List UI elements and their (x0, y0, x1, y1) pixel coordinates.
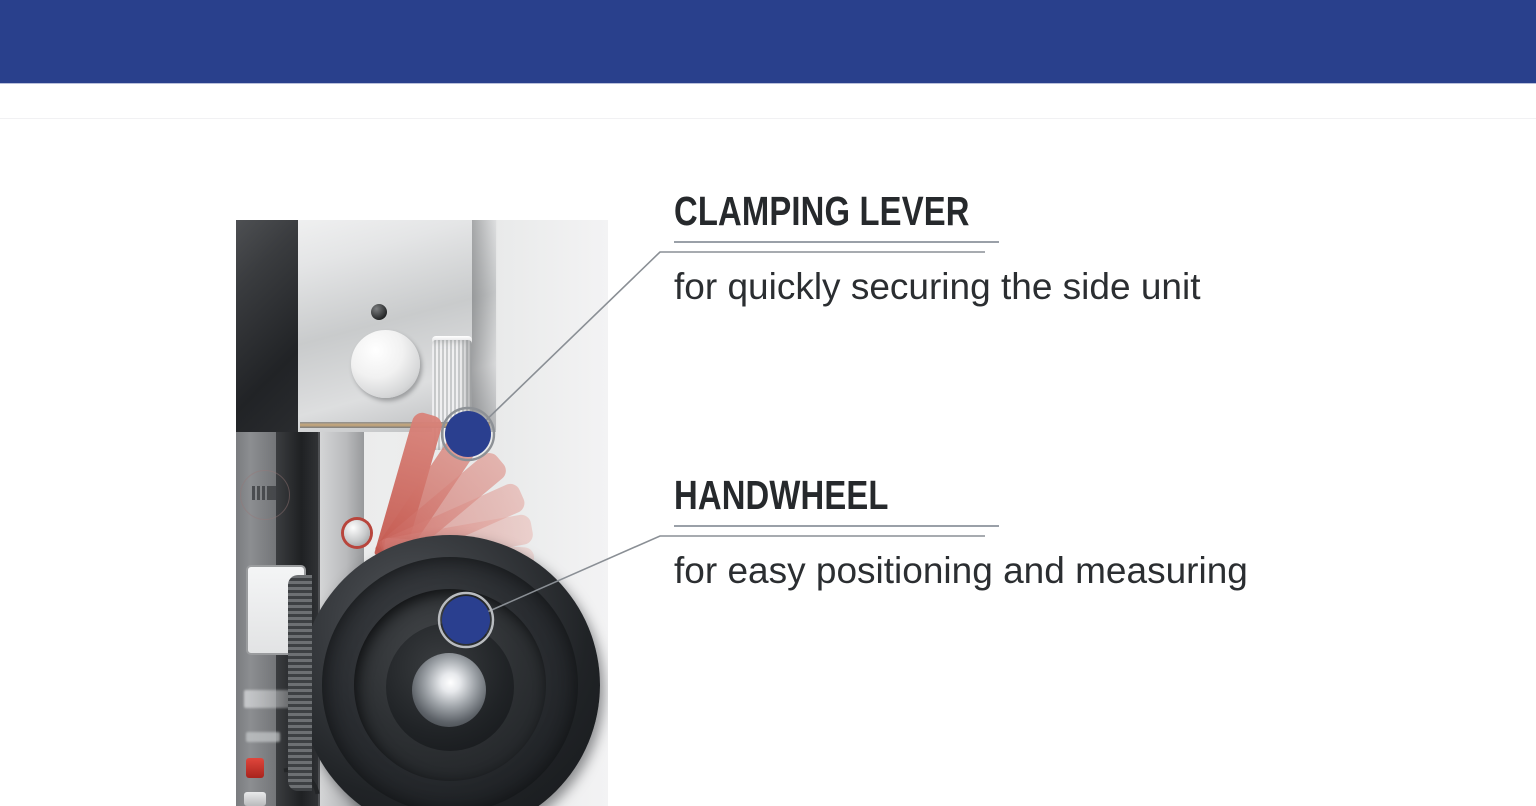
callout-overlay (0, 0, 1536, 806)
grey-button (244, 792, 266, 806)
handwheel-center-ball (412, 653, 486, 727)
banner-bottom-rule (0, 83, 1536, 84)
page-root: CLAMPING LEVER for quickly securing the … (0, 0, 1536, 806)
callout-rule (674, 525, 999, 527)
callout-description: for quickly securing the side unit (674, 268, 1201, 307)
device-sub-text (246, 732, 280, 742)
callout-handwheel: HANDWHEEL for easy positioning and measu… (674, 475, 1248, 591)
callout-description: for easy positioning and measuring (674, 552, 1248, 591)
section-hairline (0, 118, 1536, 119)
product-photo (236, 220, 608, 806)
callout-clamping-lever: CLAMPING LEVER for quickly securing the … (674, 191, 1201, 307)
knurled-adjust-wheel (288, 575, 312, 791)
red-button (246, 758, 264, 778)
callout-title: CLAMPING LEVER (674, 191, 1095, 232)
top-banner (0, 0, 1536, 83)
handwheel (292, 535, 608, 806)
callout-rule (674, 241, 999, 243)
callout-title: HANDWHEEL (674, 475, 1133, 516)
upper-screw (371, 304, 387, 320)
brand-logo-mark (252, 486, 276, 500)
